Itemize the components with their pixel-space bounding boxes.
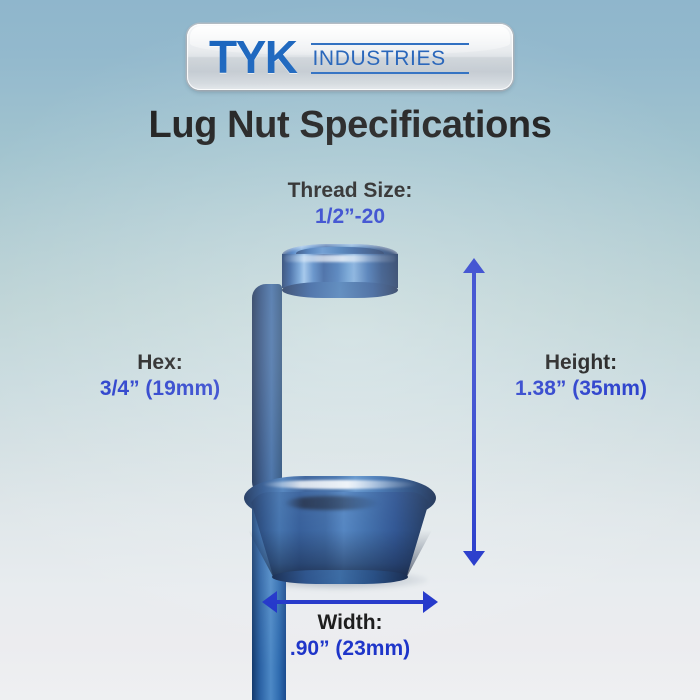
height-label: Height: — [470, 350, 692, 376]
arrow-shaft-vertical — [472, 268, 476, 556]
lug-nut-image — [238, 244, 442, 584]
spec-sheet-canvas: TYK INDUSTRIES Lug Nut Specifications — [0, 0, 700, 700]
height-dimension-arrow — [463, 258, 485, 566]
nut-seat-shading — [284, 496, 380, 510]
hex-value: 3/4” (19mm) — [50, 376, 270, 402]
arrow-head-down-icon — [463, 551, 485, 566]
spec-callout-thread-size: Thread Size: 1/2”-20 — [250, 178, 450, 229]
nut-shoulder-highlight — [262, 480, 418, 489]
arrow-shaft-horizontal — [272, 600, 428, 604]
thread-size-value: 1/2”-20 — [250, 204, 450, 230]
width-value: .90” (23mm) — [240, 636, 460, 662]
height-value: 1.38” (35mm) — [470, 376, 692, 402]
logo-rule-bottom — [311, 72, 469, 74]
brand-logo: TYK INDUSTRIES — [187, 24, 513, 90]
page-title: Lug Nut Specifications — [0, 104, 700, 147]
nut-cap-highlight — [284, 255, 396, 262]
spec-callout-height: Height: 1.38” (35mm) — [470, 350, 692, 401]
hex-label: Hex: — [50, 350, 270, 376]
width-label: Width: — [240, 610, 460, 636]
logo-suffix-group: INDUSTRIES — [311, 43, 469, 74]
spec-callout-hex: Hex: 3/4” (19mm) — [50, 350, 270, 401]
logo-wordmark-tyk: TYK — [209, 34, 297, 80]
logo-wordmark-industries: INDUSTRIES — [311, 45, 469, 72]
spec-callout-width: Width: .90” (23mm) — [240, 610, 460, 661]
thread-size-label: Thread Size: — [250, 178, 450, 204]
logo-content: TYK INDUSTRIES — [187, 24, 513, 90]
nut-seat-base-edge — [272, 570, 408, 584]
